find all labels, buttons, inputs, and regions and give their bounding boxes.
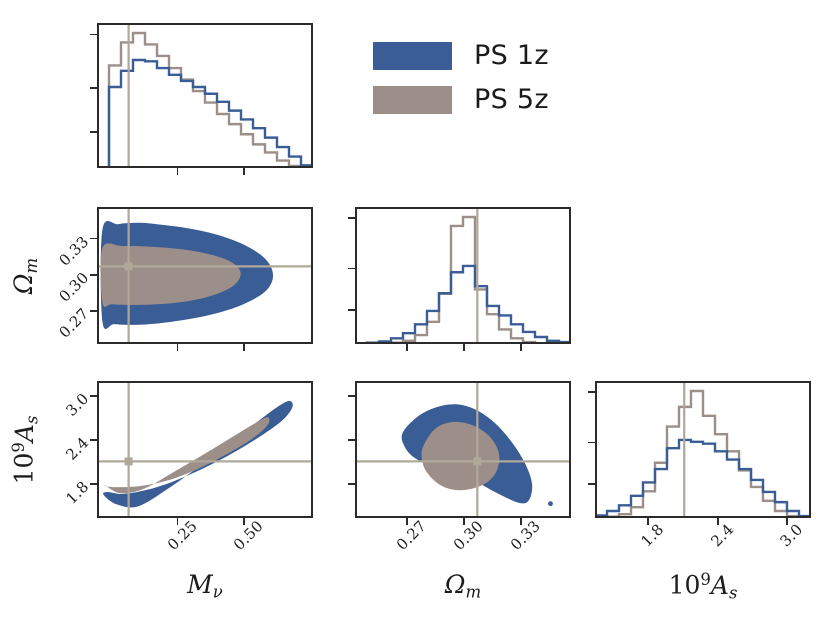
y-tick-As-0 — [90, 483, 97, 485]
x-tick-1e9 A_s-0 — [647, 518, 649, 525]
legend-label-2: PS 5z — [474, 84, 549, 115]
truth-marker — [473, 457, 481, 465]
legend-entry-1[interactable]: PS 1z — [373, 40, 549, 71]
y-tick-density-2-0 — [588, 483, 595, 485]
y-tick-As-1 — [90, 439, 97, 441]
x-axis-title-Mnu: Mν — [187, 570, 223, 602]
x-tick-Omega_m-1 — [463, 518, 465, 525]
y-tick-density-0-1 — [90, 87, 97, 89]
legend-swatch-2 — [373, 86, 452, 114]
legend-label-1: PS 1z — [474, 40, 549, 71]
y-ticklabel-Om-1: 0.30 — [55, 269, 92, 306]
histogram-step-ps5z — [595, 391, 811, 518]
x-axis-title-Om: Ωm — [445, 570, 481, 602]
legend-entry-2[interactable]: PS 5z — [373, 84, 549, 115]
x-tick-M_nu-0 — [177, 518, 179, 525]
truth-marker — [125, 457, 133, 465]
histogram-step-ps1z — [355, 266, 571, 344]
y-tick-density-1-2 — [348, 217, 355, 219]
histogram-step-ps5z — [355, 217, 571, 344]
y-tick-Om-0 — [90, 310, 97, 312]
y-tick-minor-as-0 — [348, 483, 355, 485]
x-tick-Omega_m-2 — [520, 518, 522, 525]
y-ticklabel-Om-0: 0.27 — [55, 305, 92, 342]
y-tick-density-2-1 — [588, 442, 595, 444]
panel-om-vs-mnu — [97, 207, 313, 344]
legend: PS 1zPS 5z — [373, 40, 549, 128]
x-tick-minor-1-1-0 — [406, 344, 408, 351]
x-tick-minor-1-1-2 — [520, 344, 522, 351]
y-axis-title-As: 109As — [9, 415, 41, 484]
x-ticklabel-Omega_m-2: 0.33 — [507, 517, 544, 554]
x-tick-minor-0-0-0 — [177, 168, 179, 175]
corner-plot-figure: 0.250.500.270.300.331.82.43.00.270.300.3… — [0, 0, 830, 623]
y-ticklabel-As-2: 3.0 — [62, 390, 92, 420]
x-ticklabel-M_nu-1: 0.50 — [230, 517, 267, 554]
y-ticklabel-Om-2: 0.33 — [55, 232, 92, 269]
y-tick-minor-as-1 — [348, 439, 355, 441]
x-ticklabel-Omega_m-1: 0.30 — [450, 517, 487, 554]
panel-hist-mnu — [97, 23, 313, 168]
truth-marker — [125, 262, 133, 270]
y-tick-density-1-0 — [348, 309, 355, 311]
x-tick-minor-0-1-1 — [243, 344, 245, 351]
x-tick-1e9 A_s-1 — [717, 518, 719, 525]
x-ticklabel-Omega_m-0: 0.27 — [393, 517, 430, 554]
x-axis-title-As: 109As — [669, 570, 738, 602]
x-tick-minor-1-1-1 — [463, 344, 465, 351]
x-tick-Omega_m-0 — [406, 518, 408, 525]
panel-hist-om — [355, 207, 571, 344]
y-tick-density-2-2 — [588, 391, 595, 393]
x-ticklabel-1e9 A_s-0: 1.8 — [638, 520, 668, 550]
y-tick-minor-as-2 — [348, 395, 355, 397]
x-ticklabel-M_nu-0: 0.25 — [164, 517, 201, 554]
x-tick-1e9 A_s-2 — [786, 518, 788, 525]
x-tick-M_nu-1 — [243, 518, 245, 525]
y-tick-As-2 — [90, 395, 97, 397]
y-tick-density-0-2 — [90, 34, 97, 36]
legend-swatch-1 — [373, 42, 452, 70]
x-ticklabel-1e9 A_s-1: 2.4 — [707, 520, 737, 550]
x-tick-minor-0-0-1 — [243, 168, 245, 175]
y-ticklabel-As-0: 1.8 — [62, 478, 92, 508]
y-tick-Om-2 — [90, 238, 97, 240]
y-tick-density-0-0 — [90, 131, 97, 133]
y-axis-title-Om: Ωm — [9, 257, 41, 293]
panel-as-vs-om — [355, 381, 571, 518]
y-tick-Om-1 — [90, 274, 97, 276]
panel-as-vs-mnu — [97, 381, 313, 518]
x-ticklabel-1e9 A_s-2: 3.0 — [777, 520, 807, 550]
y-ticklabel-As-1: 2.4 — [62, 434, 92, 464]
histogram-step-ps1z — [595, 440, 811, 518]
panel-hist-as — [595, 381, 811, 518]
contour-outlier-point — [548, 501, 553, 506]
x-tick-minor-0-1-0 — [177, 344, 179, 351]
y-tick-density-1-1 — [348, 268, 355, 270]
